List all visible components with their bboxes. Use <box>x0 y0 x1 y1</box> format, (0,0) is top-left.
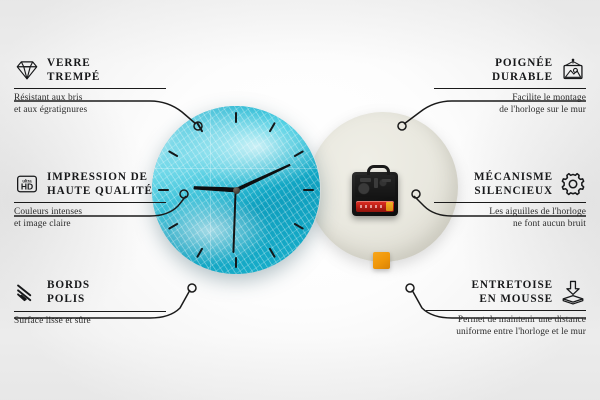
feature-title: POIGNÉE DURABLE <box>492 56 553 84</box>
clock-tick <box>235 257 237 268</box>
ultra-hd-icon-bottom-label: HD <box>21 182 33 192</box>
ultra-hd-icon: ultra HD <box>14 171 40 197</box>
feature-title-line1: VERRE <box>47 56 100 70</box>
feature-title-line1: MÉCANISME <box>474 170 553 184</box>
feature-title-line1: POIGNÉE <box>492 56 553 70</box>
feature-title: IMPRESSION DE HAUTE QUALITÉ <box>47 170 153 198</box>
feature-title: MÉCANISME SILENCIEUX <box>474 170 553 198</box>
feature-header: ultra HD IMPRESSION DE HAUTE QUALITÉ <box>14 170 166 198</box>
clock-tick <box>168 223 179 230</box>
feature-title-line1: BORDS <box>47 278 90 292</box>
feature-divider <box>14 311 166 312</box>
feature-subtitle-line2: ne font aucun bruit <box>434 219 586 231</box>
feature-subtitle-line1: Surface lisse et sûre <box>14 316 166 328</box>
feature-subtitle-line1: Résistant aux bris <box>14 93 166 105</box>
feature-header: ENTRETOISE EN MOUSSE <box>426 278 586 306</box>
clock-tick <box>196 122 203 133</box>
feature-title: BORDS POLIS <box>47 278 90 306</box>
feature-divider <box>426 310 586 311</box>
feature-divider <box>14 88 166 89</box>
feature-title-line2: POLIS <box>47 292 90 306</box>
clock-tick <box>294 223 305 230</box>
clock-mechanism <box>352 172 398 216</box>
polished-edges-icon <box>14 279 40 305</box>
clock-center-hub <box>233 187 240 194</box>
feature-title-line1: IMPRESSION DE <box>47 170 153 184</box>
feature-subtitle: Permet de maintenir une distance uniform… <box>426 315 586 338</box>
feature-mecanisme-silencieux[interactable]: MÉCANISME SILENCIEUX Les aiguilles de l'… <box>434 170 586 231</box>
feature-title-line2: SILENCIEUX <box>474 184 553 198</box>
clock-tick <box>303 189 314 191</box>
feature-divider <box>14 202 166 203</box>
feature-title: ENTRETOISE EN MOUSSE <box>471 278 553 306</box>
mechanism-housing <box>355 175 395 197</box>
feature-subtitle: Les aiguilles de l'horloge ne font aucun… <box>434 207 586 230</box>
clock-tick <box>235 112 237 123</box>
feature-header: MÉCANISME SILENCIEUX <box>434 170 586 198</box>
feature-subtitle: Résistant aux bris et aux égratignures <box>14 93 166 116</box>
feature-title-line1: ENTRETOISE <box>471 278 553 292</box>
gear-icon <box>560 171 586 197</box>
foam-spacer-icon <box>560 279 586 305</box>
feature-bords-polis[interactable]: BORDS POLIS Surface lisse et sûre <box>14 278 166 328</box>
feature-header: POIGNÉE DURABLE <box>434 56 586 84</box>
feature-subtitle-line1: Permet de maintenir une distance <box>426 315 586 327</box>
clock-tick <box>294 150 305 157</box>
feature-impression-haute-qualite[interactable]: ultra HD IMPRESSION DE HAUTE QUALITÉ Cou… <box>14 170 166 231</box>
feature-subtitle-line2: et aux égratignures <box>14 105 166 117</box>
clock-tick <box>196 248 203 259</box>
feature-subtitle-line2: uniforme entre l'horloge et le mur <box>426 327 586 339</box>
feature-title-line2: HAUTE QUALITÉ <box>47 184 153 198</box>
clock-tick <box>269 122 276 133</box>
feature-poignee-durable[interactable]: POIGNÉE DURABLE Facilite le montage de l… <box>434 56 586 117</box>
battery <box>356 201 394 212</box>
feature-subtitle-line1: Couleurs intenses <box>14 207 166 219</box>
feature-title-line2: EN MOUSSE <box>471 292 553 306</box>
clock-tick <box>269 248 276 259</box>
infographic-canvas: VERRE TREMPÉ Résistant aux bris et aux é… <box>0 0 600 400</box>
feature-subtitle-line1: Les aiguilles de l'horloge <box>434 207 586 219</box>
clock-front-face <box>152 106 320 274</box>
feature-subtitle-line2: de l'horloge sur le mur <box>434 105 586 117</box>
feature-subtitle: Facilite le montage de l'horloge sur le … <box>434 93 586 116</box>
feature-divider <box>434 202 586 203</box>
feature-entretoise-en-mousse[interactable]: ENTRETOISE EN MOUSSE Permet de maintenir… <box>426 278 586 339</box>
feature-verre-trempe[interactable]: VERRE TREMPÉ Résistant aux bris et aux é… <box>14 56 166 117</box>
clock-tick <box>168 150 179 157</box>
feature-subtitle: Surface lisse et sûre <box>14 316 166 328</box>
feature-header: VERRE TREMPÉ <box>14 56 166 84</box>
feature-title-line2: TREMPÉ <box>47 70 100 84</box>
feature-subtitle: Couleurs intenses et image claire <box>14 207 166 230</box>
feature-subtitle-line1: Facilite le montage <box>434 93 586 105</box>
feature-divider <box>434 88 586 89</box>
diamond-icon <box>14 57 40 83</box>
feature-title: VERRE TREMPÉ <box>47 56 100 84</box>
foam-spacer-square <box>373 252 390 269</box>
feature-subtitle-line2: et image claire <box>14 219 166 231</box>
hanging-frame-icon <box>560 57 586 83</box>
feature-header: BORDS POLIS <box>14 278 166 306</box>
feature-title-line2: DURABLE <box>492 70 553 84</box>
